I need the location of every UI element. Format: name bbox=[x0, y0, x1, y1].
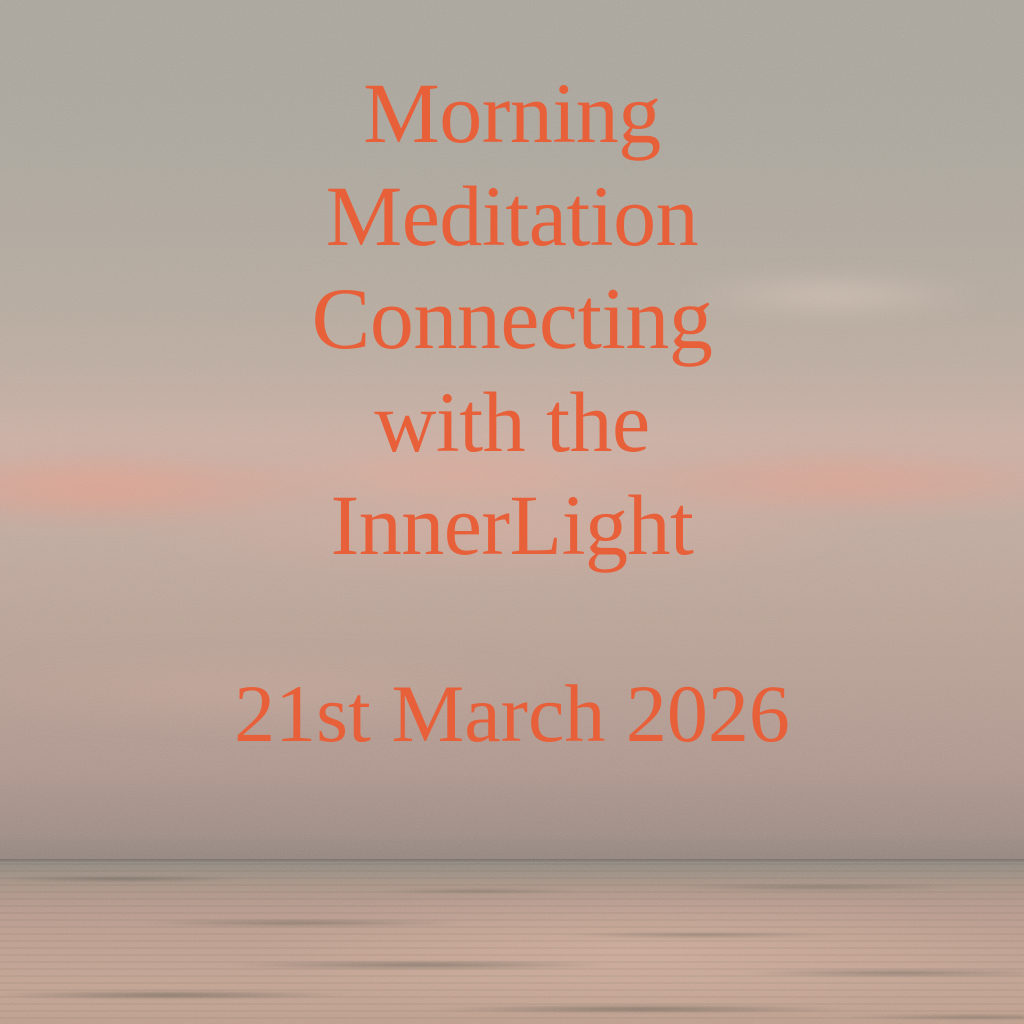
headline-line-4: with the bbox=[0, 371, 1024, 474]
headline-line-3: Connecting bbox=[0, 268, 1024, 371]
poster-canvas: Morning Meditation Connecting with the I… bbox=[0, 0, 1024, 1024]
text-layer: Morning Meditation Connecting with the I… bbox=[0, 0, 1024, 1024]
headline-line-1: Morning bbox=[0, 62, 1024, 165]
headline-line-2: Meditation bbox=[0, 165, 1024, 268]
event-date: 21st March 2026 bbox=[0, 669, 1024, 759]
headline-line-5: InnerLight bbox=[0, 474, 1024, 577]
poster-headline: Morning Meditation Connecting with the I… bbox=[0, 62, 1024, 577]
